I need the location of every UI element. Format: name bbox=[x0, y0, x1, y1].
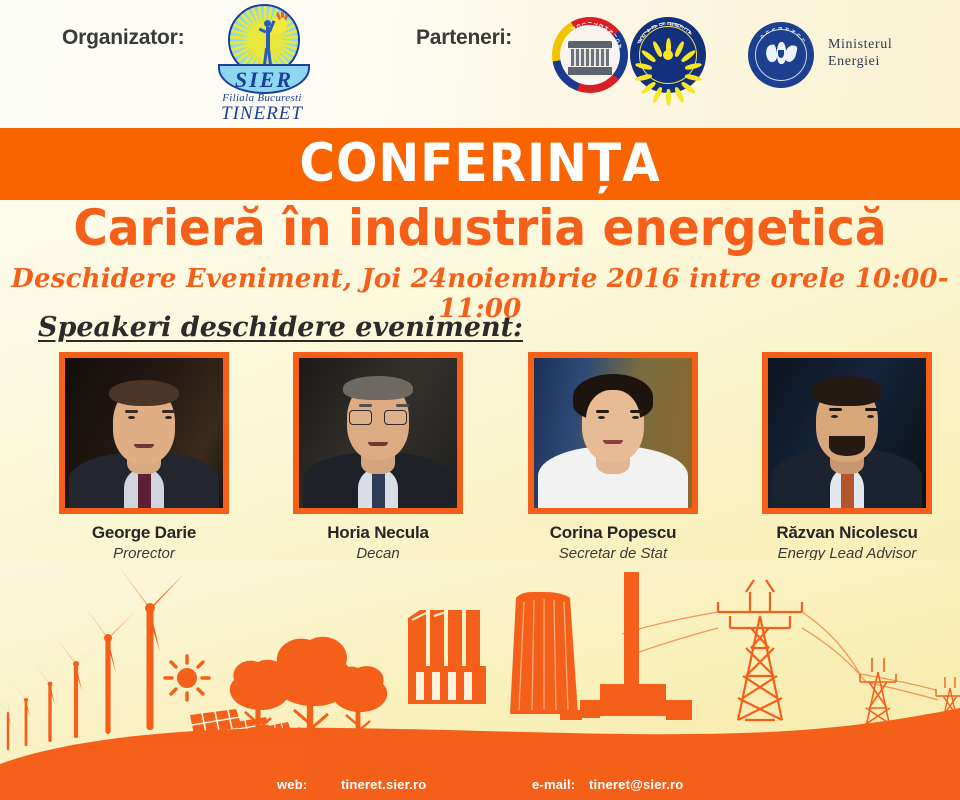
cooling-tower-icon bbox=[510, 592, 578, 714]
sier-logo: SIER Filiala Bucuresti TINERET bbox=[206, 2, 318, 124]
speaker-portrait bbox=[768, 358, 926, 508]
speakers-row: George Darie Prorector Universitatea Pol… bbox=[0, 352, 960, 592]
ministry-line-2: Energiei bbox=[828, 53, 892, 70]
speaker-photo-frame bbox=[59, 352, 229, 514]
upb-logo: 1818 POLITEHNICA bbox=[552, 17, 628, 93]
speaker-name: Corina Popescu bbox=[513, 523, 713, 543]
speaker-card: Horia Necula Decan Facultatea de Energet… bbox=[278, 352, 478, 582]
web-url[interactable]: tineret.sier.ro bbox=[341, 777, 426, 792]
poster-subtitle: Carieră în industria energetică bbox=[29, 198, 931, 258]
government-seal-logo: GUVERNUL bbox=[748, 22, 814, 88]
speaker-photo-frame bbox=[528, 352, 698, 514]
ministry-line-1: Ministerul bbox=[828, 37, 892, 52]
sier-figure-icon bbox=[261, 20, 273, 66]
conference-banner: CONFERINȚA bbox=[0, 128, 960, 200]
web-label: web: bbox=[277, 777, 307, 792]
header-bar: Organizator: SIER Filiala bbox=[0, 0, 960, 128]
speakers-heading: Speakeri deschidere eveniment: bbox=[38, 312, 523, 343]
speaker-portrait bbox=[299, 358, 457, 508]
speaker-card: Răzvan Nicolescu Energy Lead Advisor Del… bbox=[747, 352, 947, 582]
speaker-card: Corina Popescu Secretar de Stat Minister… bbox=[513, 352, 713, 582]
speaker-name: Horia Necula bbox=[278, 523, 478, 543]
email-address[interactable]: tineret@sier.ro bbox=[589, 777, 683, 792]
speaker-photo-frame bbox=[762, 352, 932, 514]
conference-word: CONFERINȚA bbox=[38, 132, 921, 196]
speaker-name: Răzvan Nicolescu bbox=[747, 523, 947, 543]
speaker-photo-frame bbox=[293, 352, 463, 514]
torch-icon bbox=[277, 10, 288, 19]
organizer-label: Organizator: bbox=[62, 26, 184, 50]
sier-acronym-banner: SIER bbox=[218, 64, 310, 94]
speaker-portrait bbox=[534, 358, 692, 508]
ministry-of-energy-text: Ministerul Energiei bbox=[828, 36, 892, 70]
conference-poster: Organizator: SIER Filiala bbox=[0, 0, 960, 800]
energetica-logo: FACULTATEA DE ENERGETICA bbox=[630, 17, 706, 93]
sun-icon bbox=[165, 656, 209, 700]
energy-landscape-illustration bbox=[0, 560, 960, 800]
sier-acronym: SIER bbox=[220, 66, 308, 93]
email-label: e-mail: bbox=[532, 777, 575, 792]
sier-tineret-line: TINERET bbox=[206, 103, 318, 125]
speaker-name: George Darie bbox=[44, 523, 244, 543]
speaker-portrait bbox=[65, 358, 223, 508]
partners-label: Parteneri: bbox=[416, 26, 512, 50]
